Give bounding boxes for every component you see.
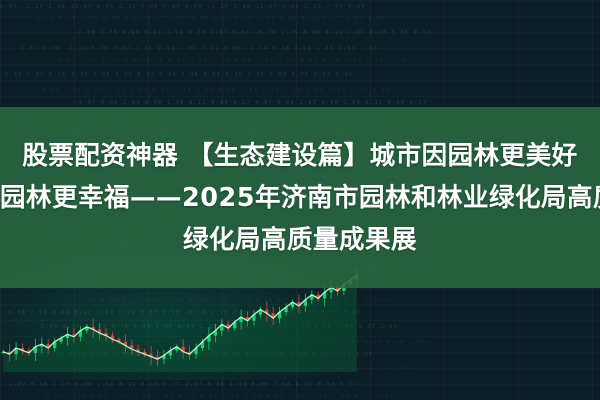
ticker-data-row: 0.00 1.83 0.00 7.29 2.04 0.00 5.16 3.40 … [0,88,600,95]
ticker-data-row: 5.61 0.00 -2.14 0.78 0.00 1.45 9.83 2.06… [0,46,600,53]
headline-block: 股票配资神器 【生态建设篇】城市因园林更美好 园林更幸福——2025年济南市园林… [0,107,600,288]
ticker-data-row: 0.00 -1.25 3.48 12.07 0.86 2.31 7.45 0.0… [0,4,600,11]
article-banner: 0.00 -1.25 3.48 12.07 0.86 2.31 7.45 0.0… [0,0,600,400]
ticker-data-row: 0.00 3.92 1.07 0.00 4.38 0.59 0.00 1.74 … [0,58,600,65]
chart-area-fill [3,275,357,372]
headline-line-1: 股票配资神器 【生态建设篇】城市因园林更美好 [0,136,600,176]
ticker-data-row: 1.12 0.00 0.94 3.66 8.02 0.17 0.00 4.59 … [0,16,600,23]
ticker-data-row: 4.07 0.66 2.93 0.00 1.58 8.11 0.00 0.27 … [0,100,600,107]
ticker-data-row: -0.38 2.75 0.00 0.41 1.93 6.20 3.07 0.00… [0,30,600,37]
headline-line-2: 园林更幸福——2025年济南市园林和林业绿化局高质量 [0,178,600,218]
headline-line-3: 绿化局高质量成果展 [183,220,417,260]
ticker-data-row: 0.00 5.34 0.81 2.67 0.00 1.09 4.72 0.00 … [0,394,600,400]
ticker-data-row: 2.48 0.00 6.15 1.36 0.00 3.71 0.92 0.00 … [0,72,600,79]
ticker-data-row: 4.07 0.66 2.93 0.00 1.58 8.11 0.00 0.27 … [0,382,600,389]
